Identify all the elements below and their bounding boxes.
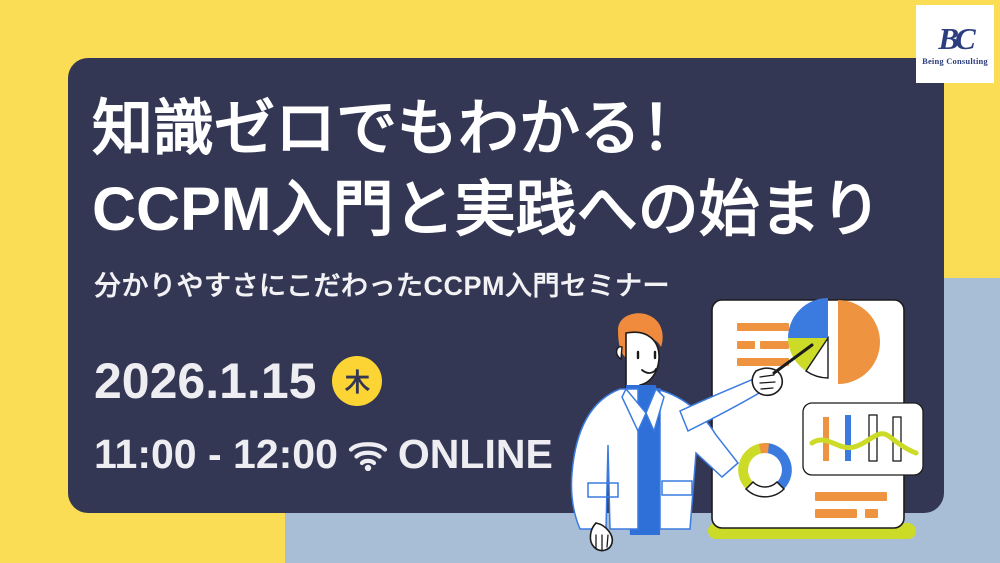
event-time: 11:00 - 12:00 (94, 434, 338, 475)
poster-bar-line-chart (803, 403, 923, 475)
wifi-icon (348, 437, 388, 471)
seminar-banner: BC Being Consulting 知識ゼロでもわかる！ CCPM入門と実践… (0, 0, 1000, 563)
headline: 知識ゼロでもわかる！ CCPM入門と実践への始まり (92, 88, 912, 249)
date-row: 2026.1.15 木 (94, 356, 382, 406)
presenter-illustration (560, 285, 960, 563)
event-date: 2026.1.15 (94, 356, 316, 406)
headline-line-1: 知識ゼロでもわかる！ (92, 88, 912, 169)
time-row: 11:00 - 12:00 ONLINE (94, 434, 553, 475)
logo-company-name: Being Consulting (922, 56, 988, 66)
presenter-hand-lower (590, 523, 612, 550)
weekday-badge: 木 (332, 356, 382, 406)
headline-line-2: CCPM入門と実践への始まり (92, 169, 912, 250)
presenter-hand-upper (752, 368, 782, 395)
company-logo: BC Being Consulting (916, 5, 994, 83)
event-format: ONLINE (398, 434, 553, 475)
logo-monogram: BC (938, 23, 971, 54)
poster-text-lines-top (737, 323, 789, 366)
